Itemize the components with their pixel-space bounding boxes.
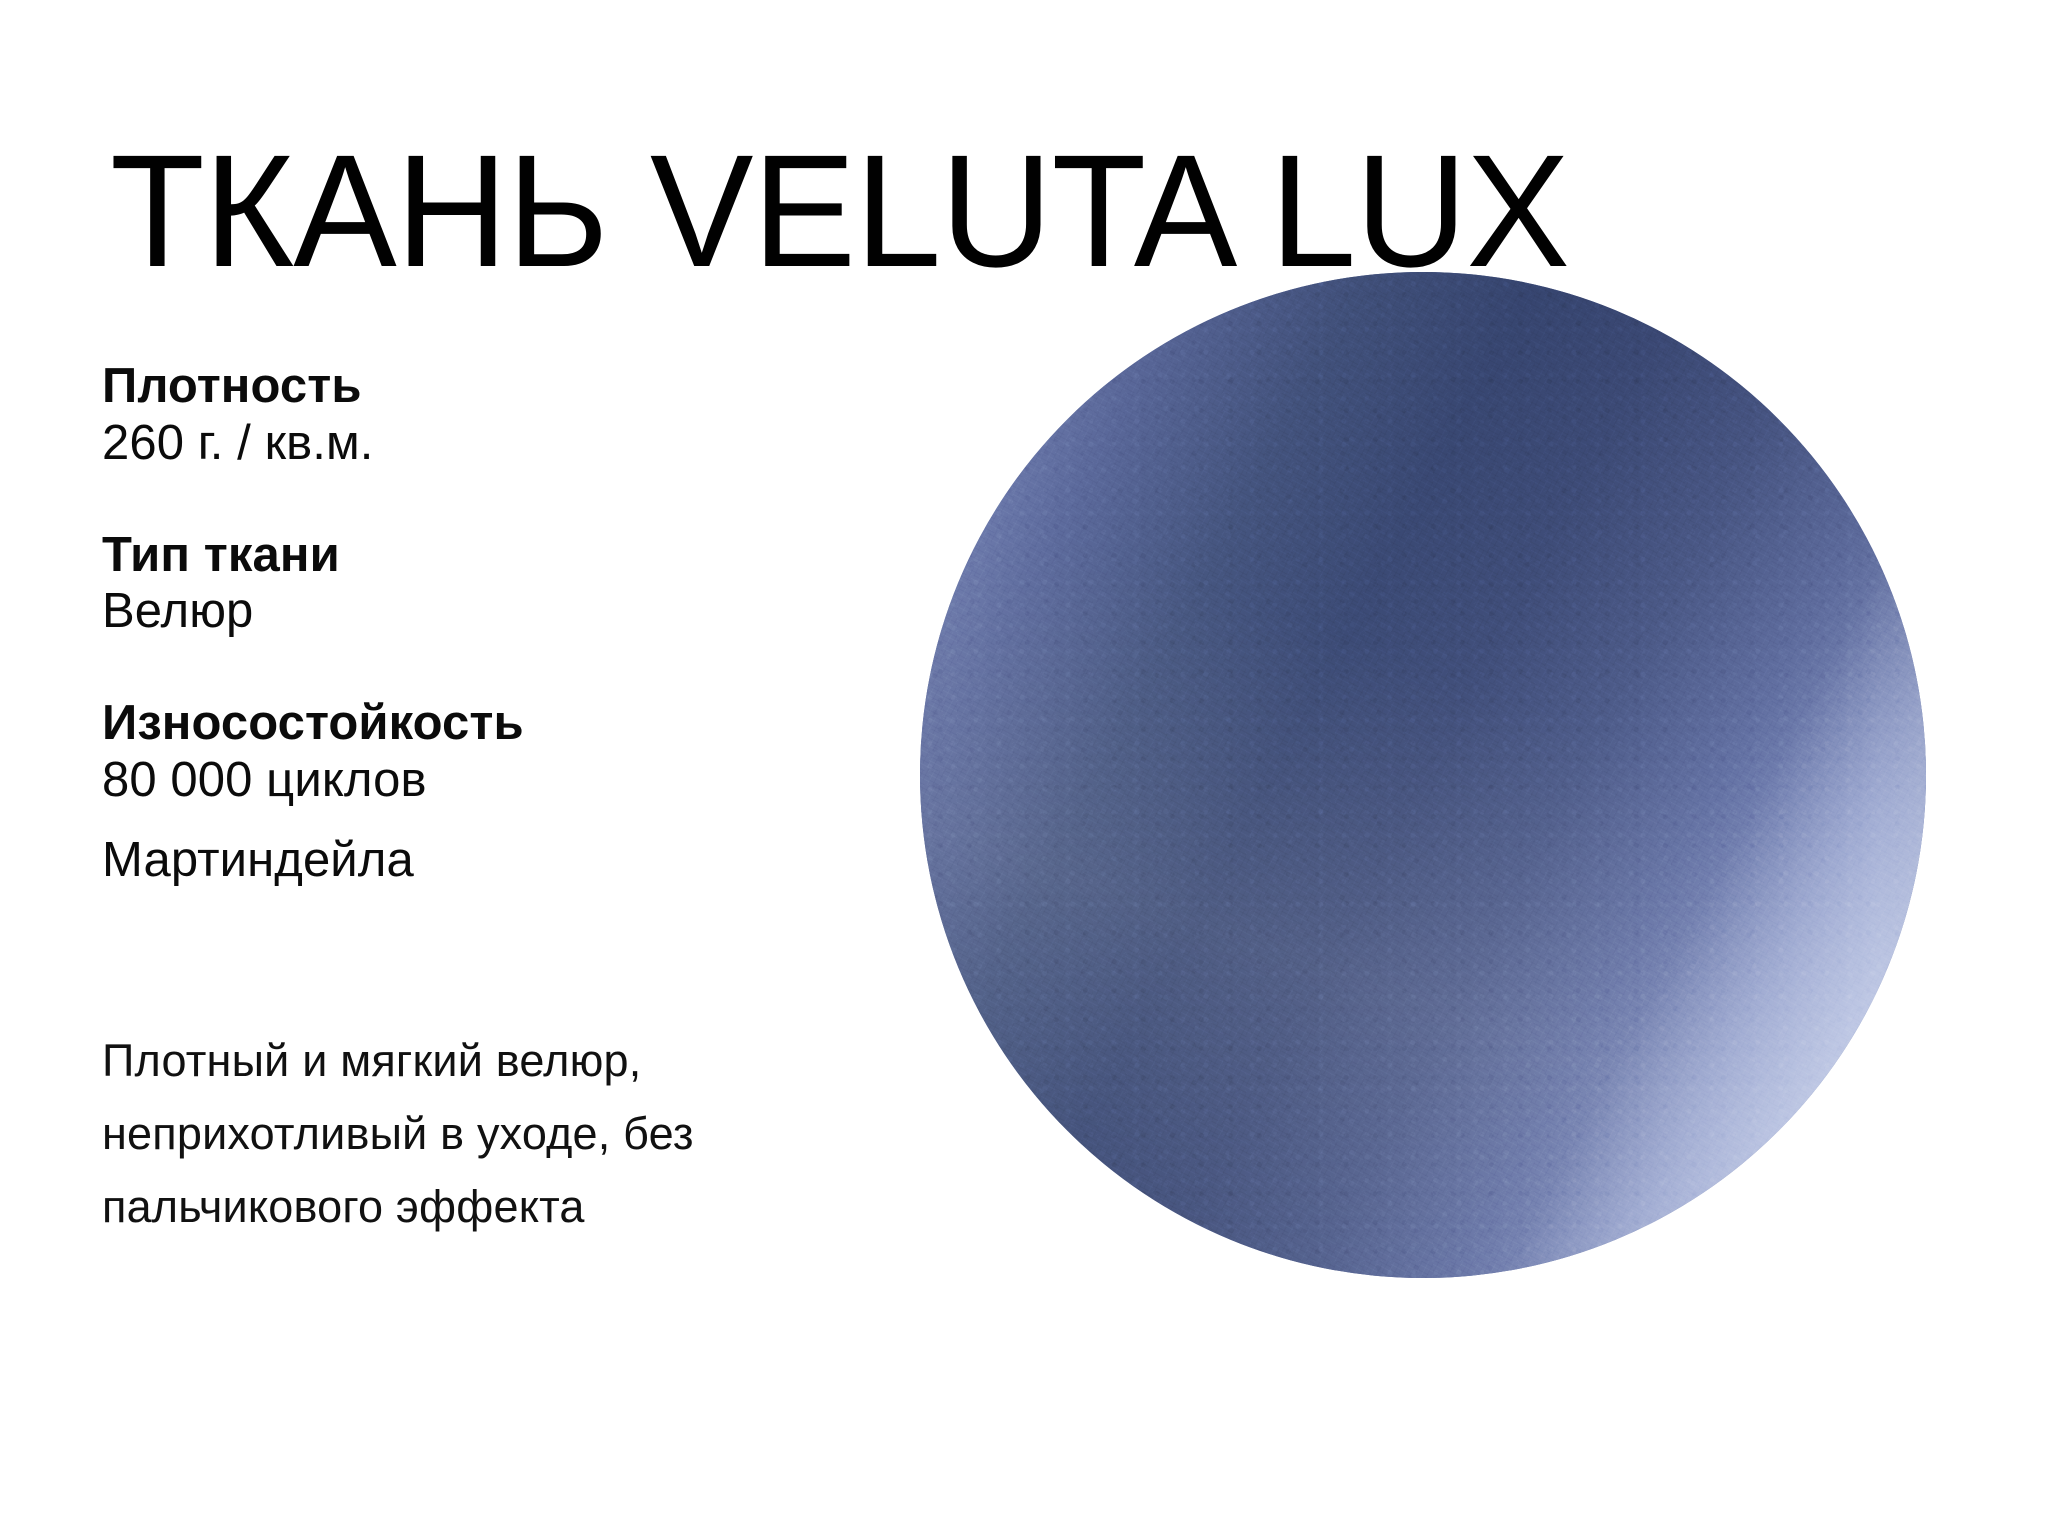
spec-item-density: Плотность 260 г. / кв.м. (102, 358, 902, 473)
fabric-spec-slide: ТКАНЬ VELUTA LUX Плотность 260 г. / кв.м… (0, 0, 2048, 1536)
spec-value-durability: 80 000 циклов (102, 752, 902, 810)
spec-item-durability: Износостойкость 80 000 циклов Мартиндейл… (102, 695, 902, 889)
fabric-description: Плотный и мягкий велюр, неприхотливый в … (102, 1025, 922, 1244)
spec-label-durability: Износостойкость (102, 695, 902, 752)
swatch-vignette (920, 272, 1926, 1278)
spec-label-density: Плотность (102, 358, 902, 415)
spec-item-fabric-type: Тип ткани Велюр (102, 527, 902, 642)
spec-list: Плотность 260 г. / кв.м. Тип ткани Велюр… (102, 358, 902, 890)
spec-value-fabric-type: Велюр (102, 583, 902, 641)
spec-value-durability-standard: Мартиндейла (102, 832, 902, 890)
page-title: ТКАНЬ VELUTA LUX (110, 131, 1569, 291)
spec-label-fabric-type: Тип ткани (102, 527, 902, 584)
fabric-swatch-circle (920, 272, 1926, 1278)
spec-value-density: 260 г. / кв.м. (102, 415, 902, 473)
